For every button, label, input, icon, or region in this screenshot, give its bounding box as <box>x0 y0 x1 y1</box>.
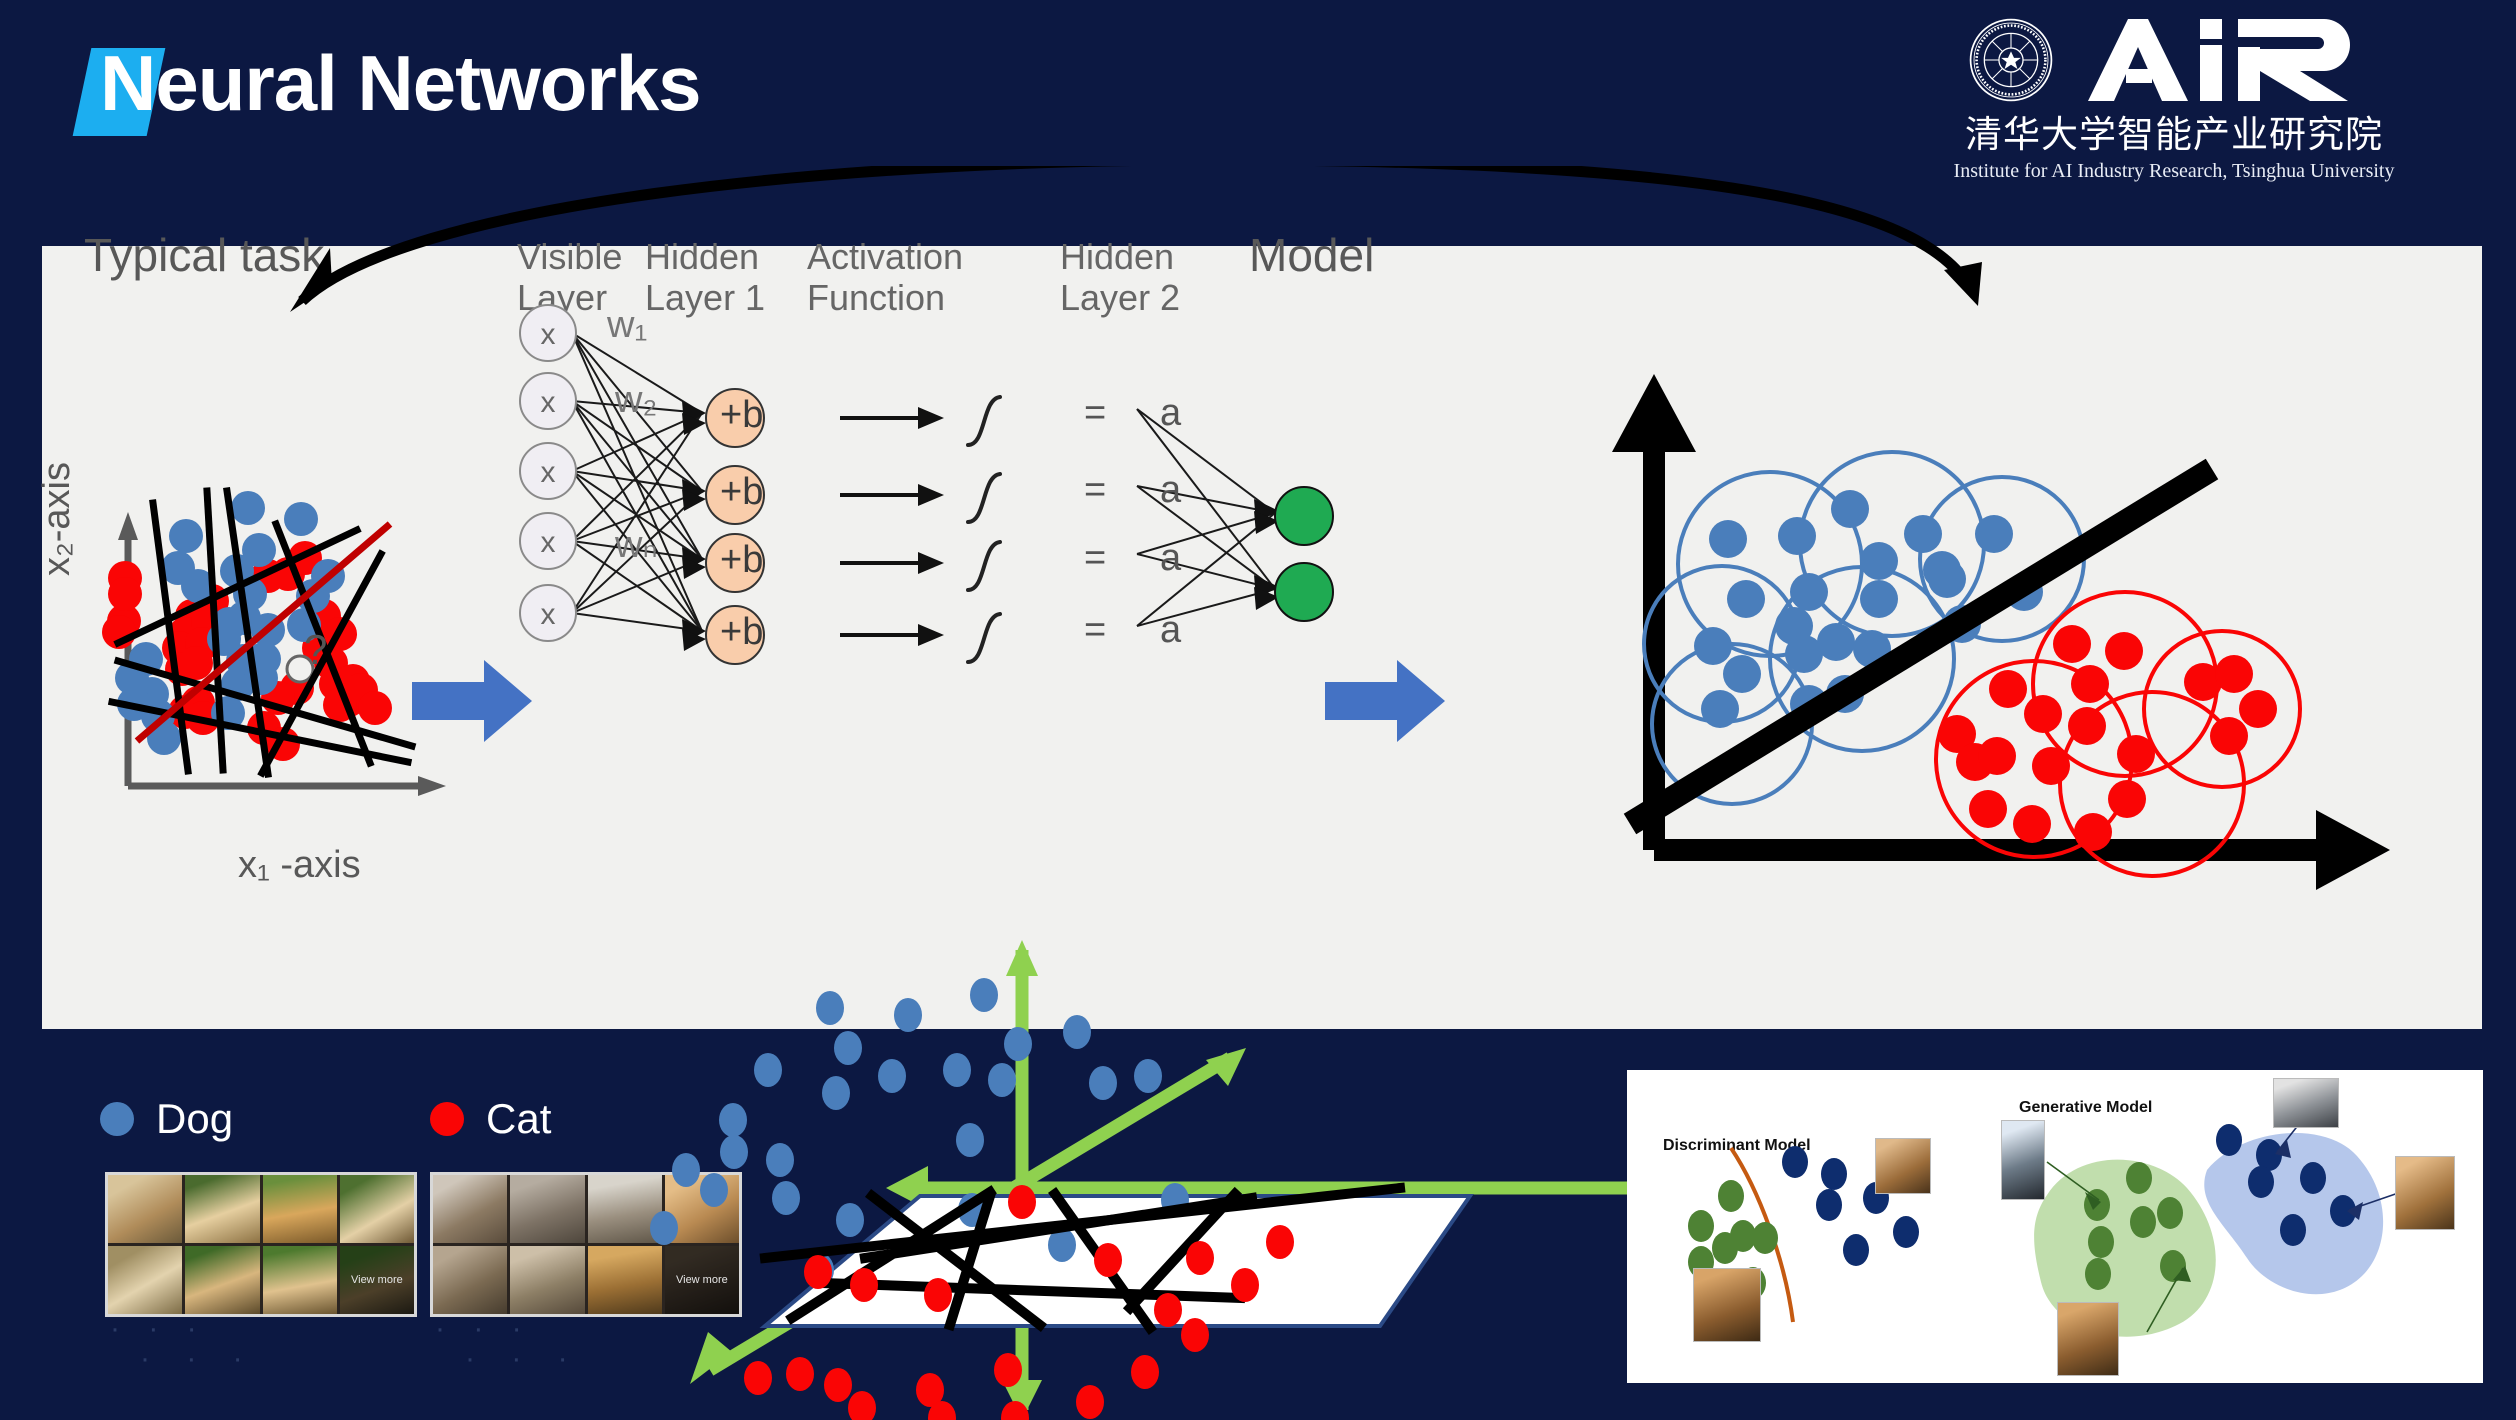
bias-label: +b <box>720 394 763 437</box>
unknown-point-label: ? <box>304 626 327 673</box>
output-node <box>1275 487 1333 545</box>
cat-photo[interactable] <box>433 1175 507 1243</box>
cat-photo[interactable] <box>510 1175 584 1243</box>
dog-grid-ellipsis-2: · · · <box>140 1342 257 1376</box>
logo-chinese-name: 清华大学智能产业研究院 <box>1854 104 2494 158</box>
weight-label-w2: w₂ <box>615 379 657 422</box>
dog-photo[interactable] <box>340 1175 414 1243</box>
col-head-line1: Activation <box>807 236 963 277</box>
page-title: Neural Networks <box>100 38 701 129</box>
activation-output-label: a <box>1160 609 1181 652</box>
dog-photo[interactable] <box>263 1246 337 1314</box>
bias-label: +b <box>720 471 763 514</box>
logo-english-name: Institute for AI Industry Research, Tsin… <box>1854 160 2494 183</box>
cat-grid-ellipsis-2: · · · <box>465 1342 582 1376</box>
col-head-line1: Visible <box>517 236 622 277</box>
activation-output-label: a <box>1160 469 1181 512</box>
dog-thumbnail[interactable] <box>1693 1268 1761 1342</box>
view-more-label[interactable]: View more <box>340 1246 414 1314</box>
equals-label: = <box>1084 392 1106 435</box>
output-node <box>1275 563 1333 621</box>
typical-task-title: Typical task <box>84 228 324 282</box>
cat-thumbnail[interactable] <box>2273 1078 2339 1128</box>
x-axis-label: x₁ -axis <box>238 844 361 887</box>
flow-arrow-2-icon <box>1325 656 1455 746</box>
dog-photo[interactable] <box>185 1175 259 1243</box>
cat-grid-ellipsis: · · · <box>435 1312 532 1346</box>
model-title: Model <box>1249 228 1374 282</box>
activation-output-label: a <box>1160 537 1181 580</box>
dog-photo[interactable] <box>263 1175 337 1243</box>
input-node-label: x <box>541 526 556 559</box>
input-node-label: x <box>541 386 556 419</box>
cat-thumbnail[interactable] <box>2395 1156 2455 1230</box>
discriminant-vs-generative-card: Discriminant Model Generative Model <box>1627 1070 2483 1383</box>
legend-item-cat: Cat <box>430 1095 551 1143</box>
y-axis-label: x₂-axis <box>36 462 79 576</box>
col-head-line1: Hidden <box>645 236 765 277</box>
legend-dot-cat <box>430 1102 464 1136</box>
equals-label: = <box>1084 469 1106 512</box>
husky-thumbnail[interactable] <box>2001 1120 2045 1200</box>
cat-photo[interactable] <box>510 1246 584 1314</box>
dog-photo[interactable] <box>185 1246 259 1314</box>
main-diagram-panel: Typical task Model Visible Layer Hidden … <box>42 246 2482 1029</box>
col-head-line1: Hidden <box>1060 236 1180 277</box>
activation-output-label: a <box>1160 392 1181 435</box>
dog-photo-view-more[interactable]: View more <box>340 1246 414 1314</box>
legend-dot-dog <box>100 1102 134 1136</box>
legend-label-cat: Cat <box>486 1095 551 1143</box>
cat-photo[interactable] <box>433 1246 507 1314</box>
input-node-label: x <box>541 456 556 489</box>
bias-label: +b <box>720 611 763 654</box>
bias-label: +b <box>720 539 763 582</box>
weight-label-wn: wₙ <box>615 522 658 567</box>
legend-item-dog: Dog <box>100 1095 233 1143</box>
dog-grid-ellipsis: · · · <box>110 1312 207 1346</box>
input-node-label: x <box>541 318 556 351</box>
equals-label: = <box>1084 537 1106 580</box>
weight-label-w1: w₁ <box>607 304 647 347</box>
legend-label-dog: Dog <box>156 1095 233 1143</box>
dog-photo-grid[interactable]: View more <box>105 1172 417 1317</box>
model-scatter <box>1532 354 2452 1014</box>
dog-photo[interactable] <box>108 1175 182 1243</box>
cat-thumbnail[interactable] <box>1875 1138 1931 1194</box>
equals-label: = <box>1084 609 1106 652</box>
dog-photo[interactable] <box>108 1246 182 1314</box>
tsinghua-seal-icon <box>1968 17 2054 103</box>
feature-space-3d <box>590 940 1710 1420</box>
dog-thumbnail[interactable] <box>2057 1302 2119 1376</box>
air-wordmark <box>2080 17 2380 103</box>
input-node-label: x <box>541 598 556 631</box>
air-logo-block: 清华大学智能产业研究院 Institute for AI Industry Re… <box>1854 14 2494 154</box>
